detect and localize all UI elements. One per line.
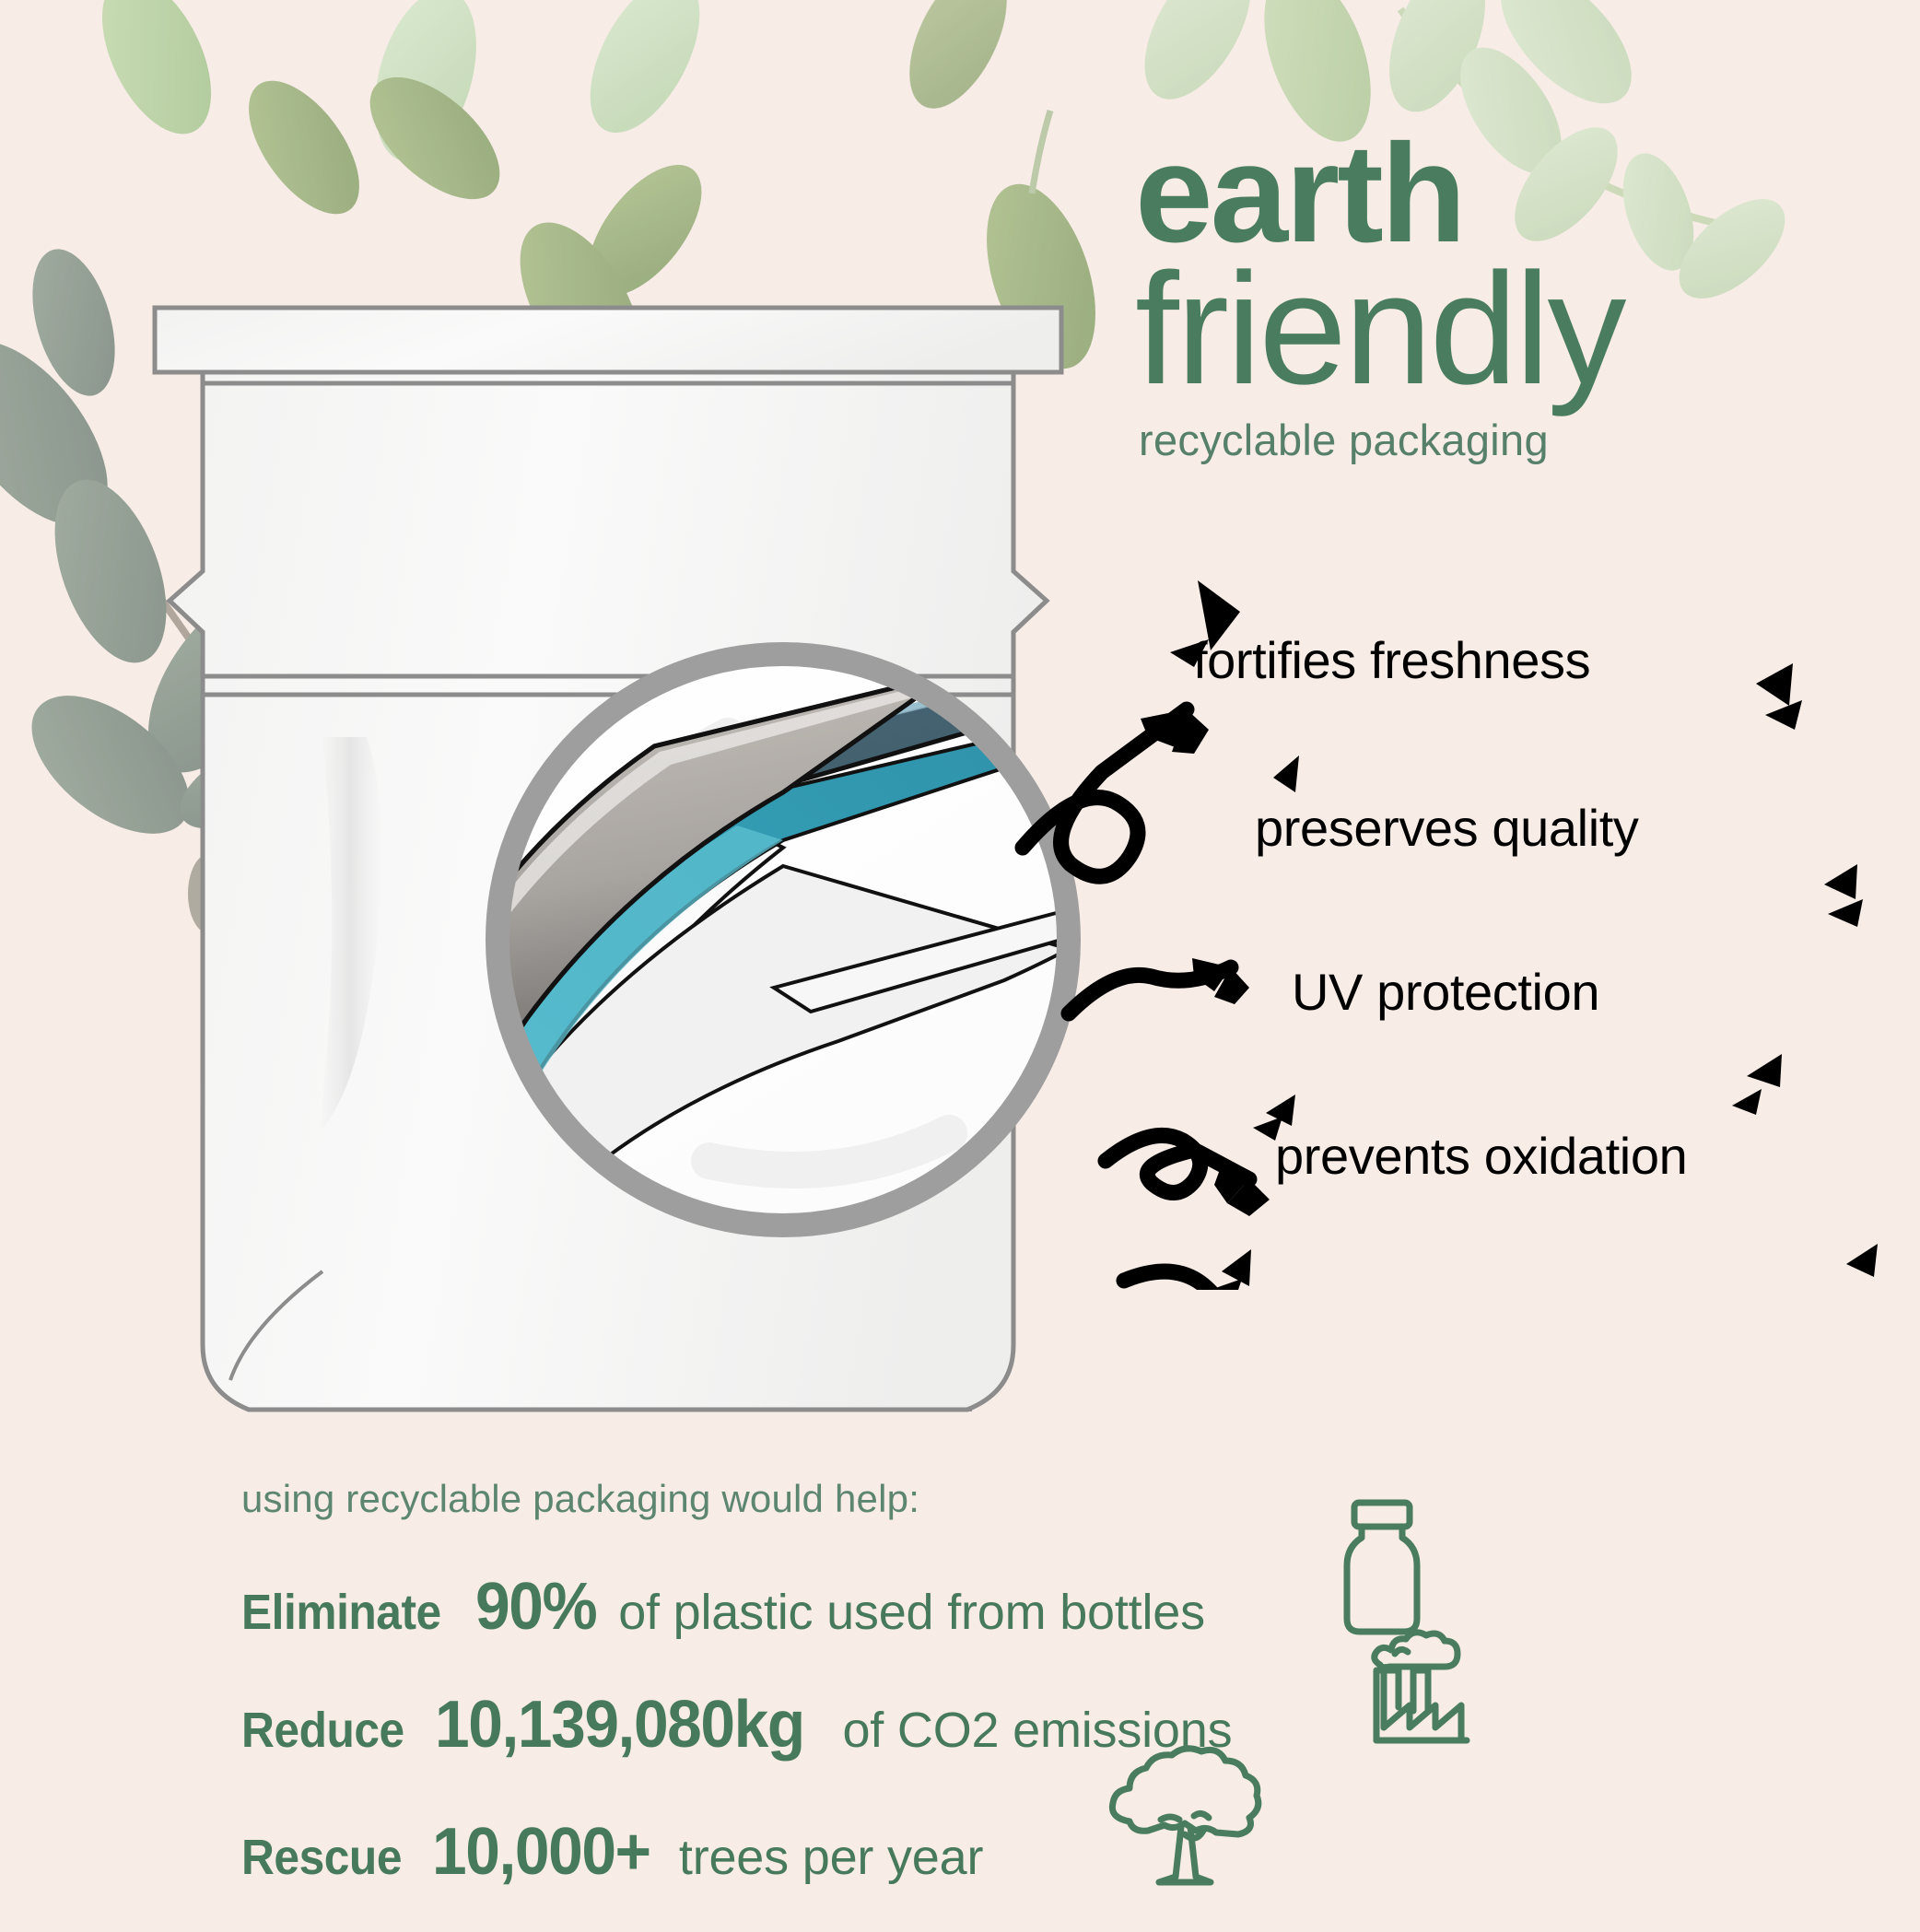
feature-label-prevents-oxidation: prevents oxidation [1275, 1126, 1687, 1186]
stat-number: 90% [475, 1569, 596, 1645]
statistics-icons-group [1060, 1488, 1428, 1912]
stat-verb: Eliminate [241, 1584, 441, 1641]
stat-number: 10,000+ [432, 1814, 650, 1890]
bottle-icon [1327, 1497, 1437, 1645]
statistics-lead-text: using recyclable packaging would help: [241, 1477, 1679, 1521]
feature-label-fortifies-freshness: fortifies freshness [1193, 630, 1590, 690]
factory-icon [1364, 1626, 1483, 1751]
tree-icon [1093, 1742, 1277, 1897]
feature-label-uv-protection: UV protection [1292, 962, 1599, 1022]
infographic-canvas: earth friendly recyclable packaging [0, 0, 1920, 1921]
headline-block: earth friendly recyclable packaging [1135, 127, 1891, 465]
feature-label-preserves-quality: preserves quality [1255, 798, 1639, 858]
headline-subtitle: recyclable packaging [1139, 415, 1891, 465]
stat-tail: trees per year [679, 1829, 983, 1886]
headline-line-2: friendly [1135, 254, 1891, 404]
stat-row-trees: Rescue 10,000+ trees per year [241, 1814, 1679, 1890]
stat-number: 10,139,080kg [435, 1687, 804, 1762]
stat-verb: Reduce [241, 1702, 404, 1759]
stat-verb: Rescue [241, 1829, 402, 1886]
